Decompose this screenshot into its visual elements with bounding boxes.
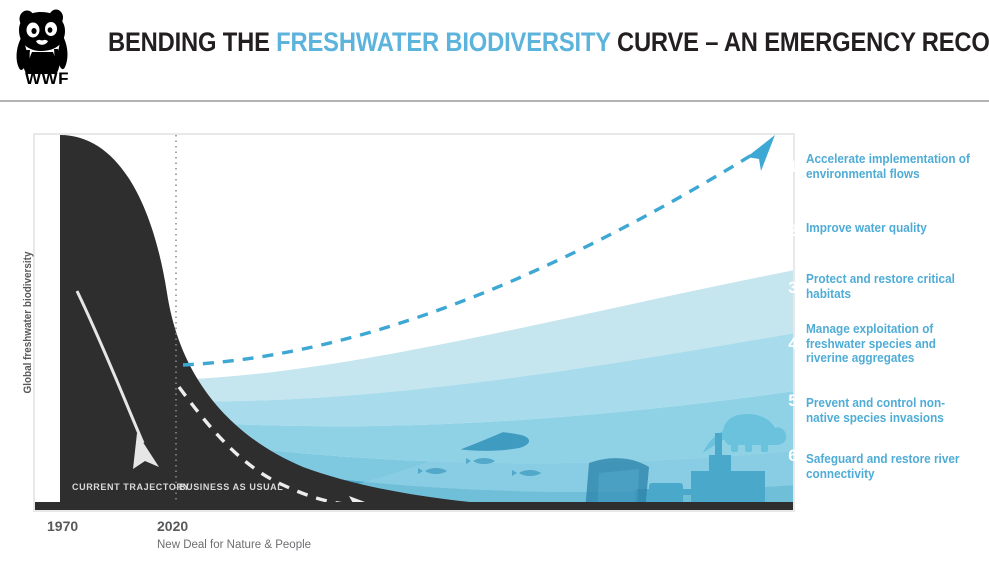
band-number-2: 2 xyxy=(780,221,806,241)
chart-area: CURRENT TRAJECTORY BUSINESS AS USUAL 1 2… xyxy=(33,133,795,512)
recovery-item-4: Manage exploitation of freshwater specie… xyxy=(806,322,975,366)
wwf-panda-logo: WWF xyxy=(8,8,80,86)
band-number-3: 3 xyxy=(780,278,806,298)
title-part-1: BENDING THE xyxy=(108,27,276,57)
phase-label-current-trajectory: CURRENT TRAJECTORY xyxy=(72,482,190,492)
recovery-arrow-head xyxy=(747,135,775,171)
bird-silhouette xyxy=(385,339,413,350)
x-axis: 1970 2020 New Deal for Nature & People xyxy=(33,518,795,564)
recovery-plan-list: Accelerate implementation of environment… xyxy=(806,133,989,512)
band-number-1: 1 xyxy=(780,157,806,177)
biodiversity-curve-graphic xyxy=(33,133,795,512)
x-tick-1970: 1970 xyxy=(47,518,78,534)
y-axis-label: Global freshwater biodiversity xyxy=(22,133,46,512)
recovery-item-2: Improve water quality xyxy=(806,221,975,236)
band-number-5: 5 xyxy=(780,391,806,411)
header-divider xyxy=(0,100,989,102)
page-title: BENDING THE FRESHWATER BIODIVERSITY CURV… xyxy=(108,27,874,58)
recovery-item-5: Prevent and control non-native species i… xyxy=(806,396,975,425)
wwf-logo-text: WWF xyxy=(25,69,69,86)
recovery-item-3: Protect and restore critical habitats xyxy=(806,272,975,301)
header: WWF BENDING THE FRESHWATER BIODIVERSITY … xyxy=(0,0,989,100)
band-number-4: 4 xyxy=(780,334,806,354)
x-tick-2020: 2020 xyxy=(157,518,188,534)
recovery-item-1: Accelerate implementation of environment… xyxy=(806,152,975,181)
band-number-6: 6 xyxy=(780,446,806,466)
x-tick-2020-sublabel: New Deal for Nature & People xyxy=(157,539,311,551)
title-accent: FRESHWATER BIODIVERSITY xyxy=(276,27,610,57)
recovery-item-6: Safeguard and restore river connectivity xyxy=(806,452,975,481)
baseline-strip xyxy=(35,502,793,510)
title-part-2: CURVE – AN EMERGENCY RECOVERY PLAN xyxy=(611,27,989,57)
phase-label-business-as-usual: BUSINESS AS USUAL xyxy=(179,482,283,492)
